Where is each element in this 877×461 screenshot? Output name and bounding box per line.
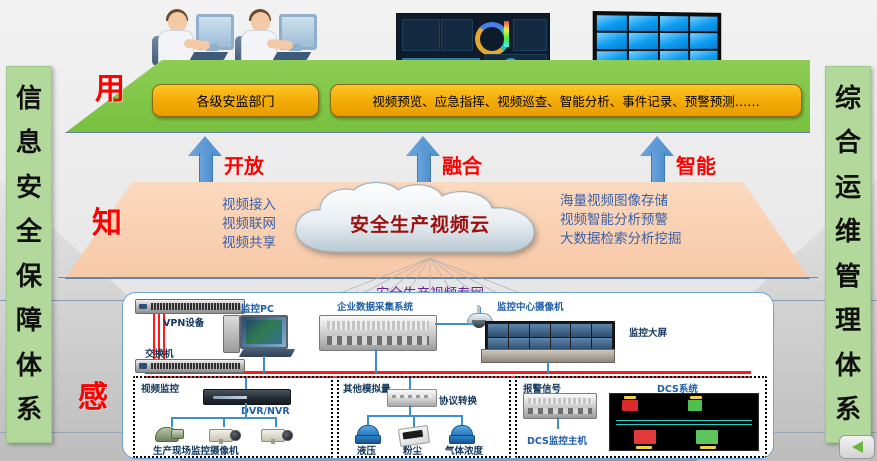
- switch-icon: [135, 359, 245, 373]
- camera-mount: [271, 439, 275, 444]
- cloud-left-capabilities: 视频接入 视频联网 视频共享: [126, 196, 276, 253]
- function-box[interactable]: 视频预览、应急指挥、视频巡查、智能分析、事件记录、预警预测……: [330, 84, 802, 117]
- banner-left-char-0: 信: [16, 86, 42, 112]
- banner-operations-management: 综 合 运 维 管 理 体 系: [825, 66, 871, 443]
- head-shape: [251, 12, 270, 32]
- arrow-fuse-icon: [406, 136, 440, 182]
- ptz-barrel: [171, 429, 184, 439]
- banner-left-char-2: 安: [16, 175, 42, 201]
- server-connectors: [327, 336, 429, 345]
- dcs-host-icon: [523, 393, 597, 419]
- dcs-block-3: [634, 430, 656, 444]
- cloud-left-item-1: 视频接入: [126, 196, 276, 215]
- arrow-smart-label: 智能: [676, 150, 716, 179]
- dvr-uplink-wire: [245, 378, 247, 389]
- keyboard-icon: [190, 52, 229, 60]
- previous-arrow-icon[interactable]: [852, 441, 863, 453]
- server-uplink-wire: [375, 349, 377, 373]
- cloud-right-capabilities: 海量视频图像存储 视频智能分析预警 大数据检索分析挖掘: [560, 192, 760, 249]
- device-led: [139, 363, 147, 368]
- center-camera-label: 监控中心摄像机: [497, 299, 564, 313]
- dvr-strip: [213, 396, 247, 399]
- camera-drop-1: [171, 417, 173, 427]
- layer-glyph-know: 知: [92, 198, 122, 242]
- device-led: [139, 304, 147, 310]
- pc-screen-icon: [240, 315, 288, 349]
- arrow-shaft: [417, 153, 431, 183]
- group-video-title: 视频监控: [141, 381, 179, 395]
- pc-keyboard-icon: [239, 349, 295, 357]
- banner-right-char-5: 理: [835, 308, 861, 334]
- arrow-shaft: [199, 153, 213, 183]
- dcs-host-wire: [557, 417, 559, 429]
- arrow-open-label: 开放: [224, 150, 264, 179]
- architecture-diagram: 用 各级安监部门 视频预览、应急指挥、视频巡查、智能分析、事件记录、预警预测………: [0, 0, 877, 461]
- layer-sense-panel: VPN设备 交换机 监控PC 企业数据采集系统 监控中心摄像机: [122, 292, 774, 459]
- server-connectors: [528, 408, 591, 414]
- head-shape: [168, 12, 187, 32]
- switch-label: 交换机: [145, 346, 174, 360]
- dept-box[interactable]: 各级安监部门: [152, 84, 319, 117]
- camera-dome: [472, 320, 486, 328]
- banner-information-security: 信 息 安 全 保 障 体 系: [6, 66, 52, 443]
- converter-slots: [392, 395, 432, 398]
- arrow-fuse-label: 融合: [442, 150, 482, 179]
- layer-glyph-sense: 感: [78, 372, 108, 416]
- dust-label: 粉尘: [403, 443, 422, 457]
- cloud-left-item-3: 视频共享: [126, 234, 276, 253]
- banner-right-char-4: 管: [835, 264, 861, 290]
- dcs-tag-4: [700, 446, 716, 449]
- protocol-converter-icon: [387, 389, 437, 407]
- dash-table-right: [441, 19, 473, 51]
- cloud-left-item-2: 视频联网: [126, 215, 276, 234]
- arrow-shaft: [651, 153, 665, 183]
- camera-lens: [230, 430, 241, 441]
- gas-label: 气体浓度: [445, 443, 483, 457]
- sensor-drop-2: [413, 415, 415, 427]
- dvr-nvr-icon: [203, 389, 291, 405]
- keyboard-icon: [273, 52, 312, 60]
- corner-nav-widget[interactable]: [839, 435, 875, 459]
- arrow-smart-icon: [640, 136, 674, 182]
- banner-right-char-2: 运: [835, 175, 861, 201]
- layer-glyph-use: 用: [95, 64, 125, 108]
- pc-tower-icon: [223, 315, 240, 353]
- banner-left-char-5: 障: [16, 308, 42, 334]
- dash-scatter-panel: [513, 19, 547, 51]
- vpn-device-icon: [135, 299, 245, 314]
- banner-right-char-3: 维: [835, 219, 861, 245]
- dcs-tag-3: [636, 446, 652, 449]
- cloud-graphic: 安全生产视频云: [280, 182, 560, 268]
- protocol-converter-label: 协议转换: [439, 393, 477, 407]
- hydraulic-sensor-icon: [355, 425, 381, 443]
- banner-left-char-6: 体: [16, 353, 42, 379]
- gas-sensor-icon: [449, 425, 475, 443]
- data-collect-label: 企业数据采集系统: [337, 299, 413, 313]
- dcs-block-1: [622, 400, 638, 411]
- sensor-bus-wire: [367, 415, 463, 417]
- banner-right-char-1: 合: [835, 130, 861, 156]
- device-ports: [151, 303, 240, 310]
- dcs-tag-2: [690, 396, 702, 399]
- monitor-pc-label: 监控PC: [241, 301, 274, 315]
- hydraulic-label: 液压: [357, 443, 376, 457]
- arrow-open-icon: [188, 136, 222, 182]
- dcs-tag-1: [624, 396, 636, 399]
- banner-right-char-0: 综: [835, 86, 861, 112]
- data-collect-server-icon: [319, 315, 437, 351]
- dcs-bus-line-1: [616, 420, 752, 421]
- camera-lens: [282, 430, 293, 441]
- group-analog-title: 其他模拟量: [343, 381, 391, 395]
- banner-left-char-4: 保: [16, 264, 42, 290]
- server-vents: [528, 398, 591, 404]
- dcs-scada-screen: [609, 393, 759, 451]
- banner-right-char-6: 体: [835, 353, 861, 379]
- bullet-camera-icon-2: [261, 426, 293, 446]
- dvr-downlink-wire: [245, 403, 247, 417]
- cloud-right-item-1: 海量视频图像存储: [560, 192, 760, 211]
- banner-left-char-1: 息: [16, 130, 42, 156]
- desk-uplink-wire: [547, 361, 549, 373]
- dvr-nvr-label: DVR/NVR: [241, 406, 290, 417]
- cloud-right-item-3: 大数据检索分析挖掘: [560, 230, 760, 249]
- banner-right-char-7: 系: [835, 397, 861, 423]
- cloud-title: 安全生产视频云: [280, 210, 560, 237]
- dash-colorbar: [504, 21, 509, 47]
- converter-downlink-wire: [409, 405, 411, 415]
- vpn-device-label: VPN设备: [163, 315, 204, 329]
- dash-table-left: [402, 19, 440, 51]
- dcs-host-label: DCS监控主机: [527, 433, 587, 447]
- dcs-bus-line-2: [616, 424, 752, 425]
- banner-left-char-3: 全: [16, 219, 42, 245]
- converter-uplink-wire: [409, 378, 411, 389]
- big-screen-label: 监控大屏: [629, 325, 667, 339]
- device-ports: [151, 363, 240, 370]
- dcs-block-4: [696, 430, 718, 444]
- pc-uplink-wire: [263, 356, 265, 373]
- banner-left-char-7: 系: [16, 397, 42, 423]
- server-vents: [327, 321, 429, 330]
- site-camera-label: 生产现场监控摄像机: [153, 443, 239, 457]
- dcs-block-2: [688, 400, 702, 411]
- cloud-right-item-2: 视频智能分析预警: [560, 211, 760, 230]
